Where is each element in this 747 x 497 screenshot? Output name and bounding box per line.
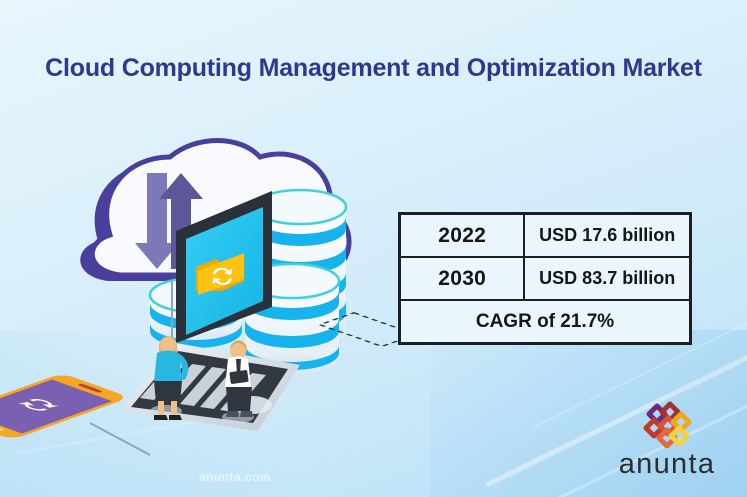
stat-year: 2022 [400, 214, 525, 258]
logo-wordmark: anunta [601, 450, 733, 479]
stat-value: USD 83.7 billion [524, 257, 690, 300]
anunta-logo: anunta [601, 398, 733, 484]
table-row: CAGR of 21.7% [400, 300, 691, 344]
stat-value: USD 17.6 billion [524, 214, 690, 258]
table-row: 2030 USD 83.7 billion [400, 257, 691, 300]
smartphone-icon [0, 373, 130, 440]
watermark-text: anunta.com [150, 470, 320, 484]
table-row: 2022 USD 17.6 billion [400, 214, 691, 258]
page-title: Cloud Computing Management and Optimizat… [0, 54, 747, 83]
stat-cagr: CAGR of 21.7% [400, 300, 691, 344]
infographic-canvas: Cloud Computing Management and Optimizat… [0, 0, 747, 497]
market-stats-table: 2022 USD 17.6 billion 2030 USD 83.7 bill… [398, 212, 692, 345]
anunta-knot-icon [640, 398, 694, 448]
connector-line [90, 423, 150, 455]
stat-year: 2030 [400, 257, 525, 300]
cloud-computing-illustration [0, 95, 420, 495]
